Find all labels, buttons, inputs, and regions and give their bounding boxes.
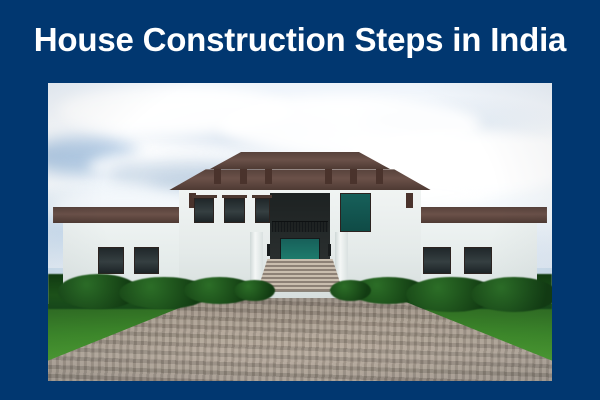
upper-window [255,198,270,223]
wall-sconce-left [267,244,270,256]
wing-window-left [98,247,123,274]
upper-window-right [340,193,370,232]
wing-window-right [464,247,492,274]
roof-corbel [406,193,413,208]
photo-scene [48,83,552,381]
roof-corbel [350,169,357,184]
roof-corbel [376,169,383,184]
roof-corbel [265,169,272,184]
hedge-shrub [471,277,552,313]
roof-main [169,169,431,190]
hedge-shrub [234,280,274,301]
roof-corbel [325,169,332,184]
wall-sconce-right [328,244,331,256]
banner-graphic: House Construction Steps in India [0,0,600,400]
house-photo [48,83,552,381]
roof-corbel [214,169,221,184]
wing-window-right [423,247,451,274]
upper-window [224,198,244,223]
roof-corbel [240,169,247,184]
page-title: House Construction Steps in India [0,20,600,60]
balcony-railing [272,221,327,232]
wing-window-left [134,247,159,274]
upper-window [194,198,214,223]
hedge-shrub [330,280,370,301]
